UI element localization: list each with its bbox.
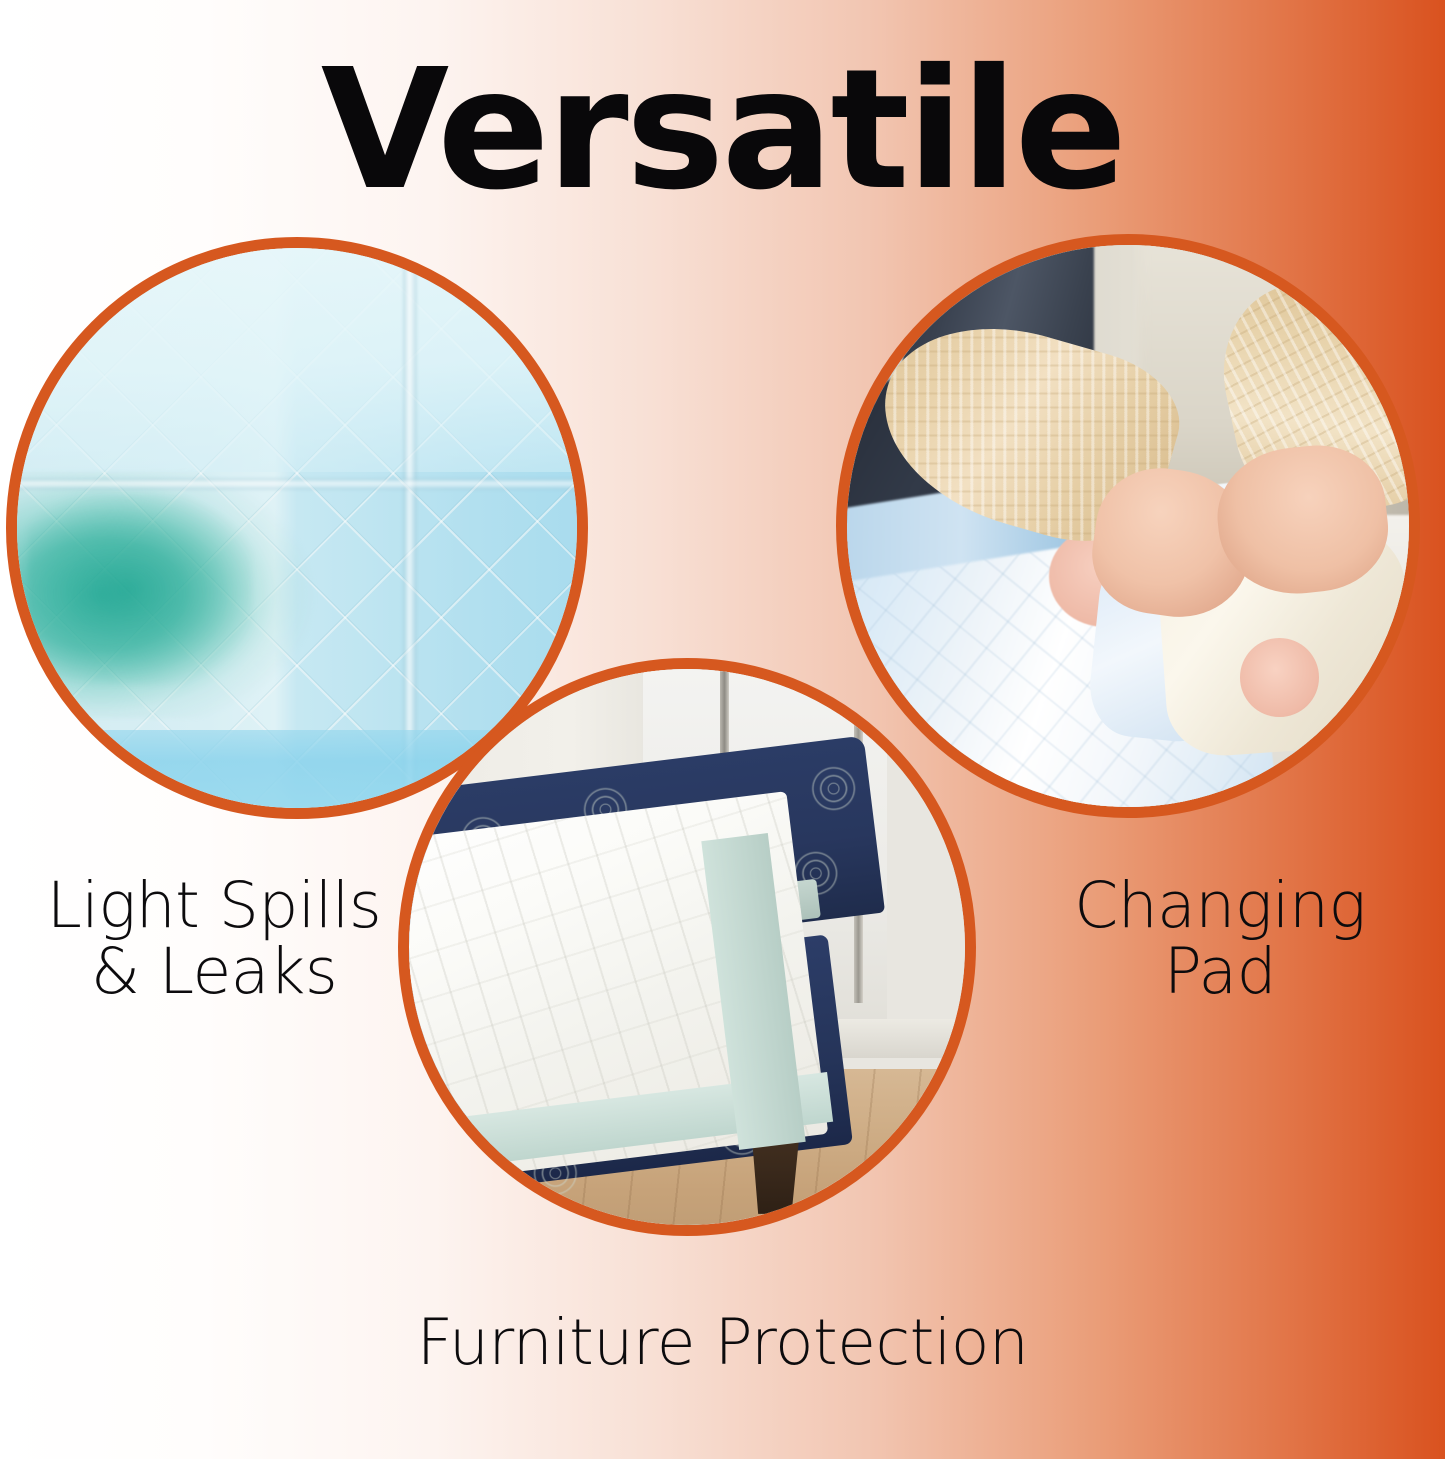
feature-label-changing-pad: Changing Pad	[1020, 873, 1420, 1004]
page-title: Versatile	[0, 48, 1445, 214]
infographic-canvas: Versatile	[0, 0, 1445, 1459]
feature-label-furniture-protection: Furniture Protection	[0, 1310, 1445, 1376]
pad-top-band	[6, 237, 588, 472]
label-line: Furniture Protection	[0, 1310, 1445, 1376]
pad-horizontal-fold	[6, 478, 588, 490]
scene-container	[409, 669, 965, 1225]
photo-chair-with-underpad	[409, 669, 965, 1225]
feature-image-furniture-protection	[398, 658, 976, 1236]
floral-motif	[799, 753, 868, 822]
feature-label-light-spills-and-leaks: Light Spills & Leaks	[14, 873, 414, 1004]
label-line: & Leaks	[14, 939, 414, 1005]
teal-spill-core	[28, 494, 252, 684]
label-line: Changing	[1020, 873, 1420, 939]
baby-foot	[1240, 638, 1319, 717]
label-line: Light Spills	[14, 873, 414, 939]
label-line: Pad	[1020, 939, 1420, 1005]
